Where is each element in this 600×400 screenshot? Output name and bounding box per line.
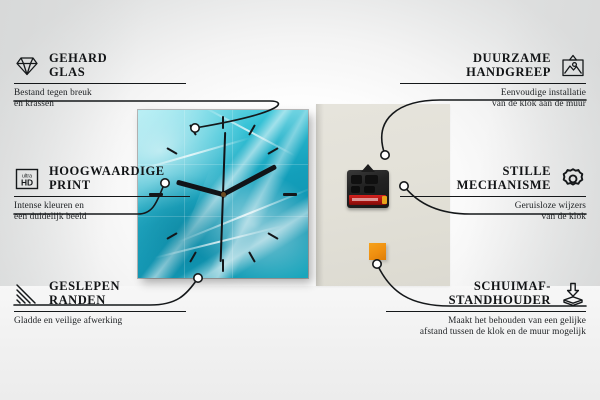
feature-header: STILLE MECHANISME <box>400 165 586 192</box>
movement-detail-1 <box>351 175 362 184</box>
svg-text:HD: HD <box>21 177 33 187</box>
clock-tick-6 <box>222 259 224 272</box>
feature-hoogwaardige-print: ultra HD HOOGWAARDIGE PRINT Intense kleu… <box>14 165 204 224</box>
feature-title: HOOGWAARDIGE PRINT <box>49 165 165 192</box>
feature-divider <box>14 196 190 197</box>
movement-detail-3 <box>351 186 360 193</box>
clock-center-hub <box>221 192 226 197</box>
feature-divider <box>14 83 186 84</box>
beveled-edge-icon <box>14 282 40 306</box>
feature-schuimaf-standhouder: SCHUIMAF- STANDHOUDER Maakt het behouden… <box>386 280 586 339</box>
feature-divider <box>14 311 186 312</box>
feature-divider <box>400 196 586 197</box>
feature-header: DUURZAME HANDGREEP <box>400 52 586 79</box>
feature-header: GESLEPEN RANDEN <box>14 280 200 307</box>
gear-icon <box>560 167 586 191</box>
feature-geslepen-randen: GESLEPEN RANDEN Gladde en veilige afwerk… <box>14 280 200 327</box>
feature-header: SCHUIMAF- STANDHOUDER <box>386 280 586 307</box>
feature-title: STILLE MECHANISME <box>457 165 551 192</box>
clock-movement-mechanism <box>347 170 389 208</box>
hanging-picture-frame-icon <box>560 54 586 78</box>
battery <box>349 195 386 205</box>
diamond-icon <box>14 54 40 78</box>
battery-label <box>352 198 378 201</box>
feature-title: GEHARD GLAS <box>49 52 107 79</box>
movement-detail-2 <box>365 175 378 184</box>
feature-header: GEHARD GLAS <box>14 52 200 79</box>
wall-shadow-edge <box>316 104 324 286</box>
movement-detail-4 <box>364 186 375 193</box>
feature-title: DUURZAME HANDGREEP <box>466 52 551 79</box>
feature-title: SCHUIMAF- STANDHOUDER <box>449 280 551 307</box>
feature-divider <box>386 311 586 312</box>
foam-spacer-pad <box>369 243 386 260</box>
feature-header: ultra HD HOOGWAARDIGE PRINT <box>14 165 204 192</box>
press-down-pad-icon <box>560 282 586 306</box>
feature-gehard-glas: GEHARD GLAS Bestand tegen breuk en krass… <box>14 52 200 111</box>
feature-title: GESLEPEN RANDEN <box>49 280 120 307</box>
ultra-hd-icon: ultra HD <box>14 167 40 191</box>
clock-tick-3 <box>283 193 297 196</box>
clock-tick-12 <box>222 116 224 129</box>
feature-duurzame-handgreep: DUURZAME HANDGREEP Eenvoudige installati… <box>400 52 586 111</box>
battery-positive-cap <box>382 196 387 204</box>
feature-stille-mechanisme: STILLE MECHANISME Geruisloze wijzers van… <box>400 165 586 224</box>
infographic-canvas: GEHARD GLAS Bestand tegen breuk en krass… <box>0 0 600 400</box>
feature-divider <box>400 83 586 84</box>
